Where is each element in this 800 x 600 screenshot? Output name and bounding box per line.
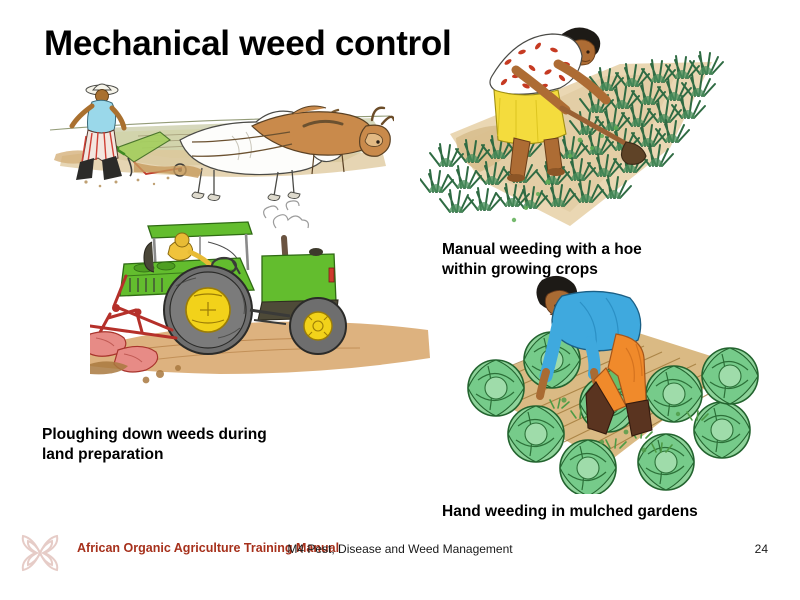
caption-line: Hand weeding in mulched gardens	[442, 502, 762, 522]
manual-hoe-weeding-illustration	[420, 16, 776, 242]
ox-drawn-plough-illustration	[42, 70, 394, 202]
caption-line: within growing crops	[442, 260, 742, 280]
caption-manual-weeding: Manual weeding with a hoe within growing…	[442, 240, 742, 280]
caption-hand-weeding: Hand weeding in mulched gardens	[442, 502, 762, 522]
caption-line: Ploughing down weeds during	[42, 425, 342, 445]
caption-line: land preparation	[42, 445, 342, 465]
hand-weeding-cabbages-illustration	[430, 272, 780, 494]
footer-module-title: M4 Pest, Disease and Weed Management	[0, 542, 800, 556]
slide-canvas: Mechanical weed control	[0, 0, 800, 600]
slide-footer: African Organic Agriculture Training Man…	[0, 534, 800, 568]
caption-ploughing: Ploughing down weeds during land prepara…	[42, 425, 342, 465]
caption-line: Manual weeding with a hoe	[442, 240, 742, 260]
tractor-plough-illustration	[90, 198, 436, 388]
footer-page-number: 24	[755, 542, 768, 556]
page-title: Mechanical weed control	[44, 24, 451, 64]
